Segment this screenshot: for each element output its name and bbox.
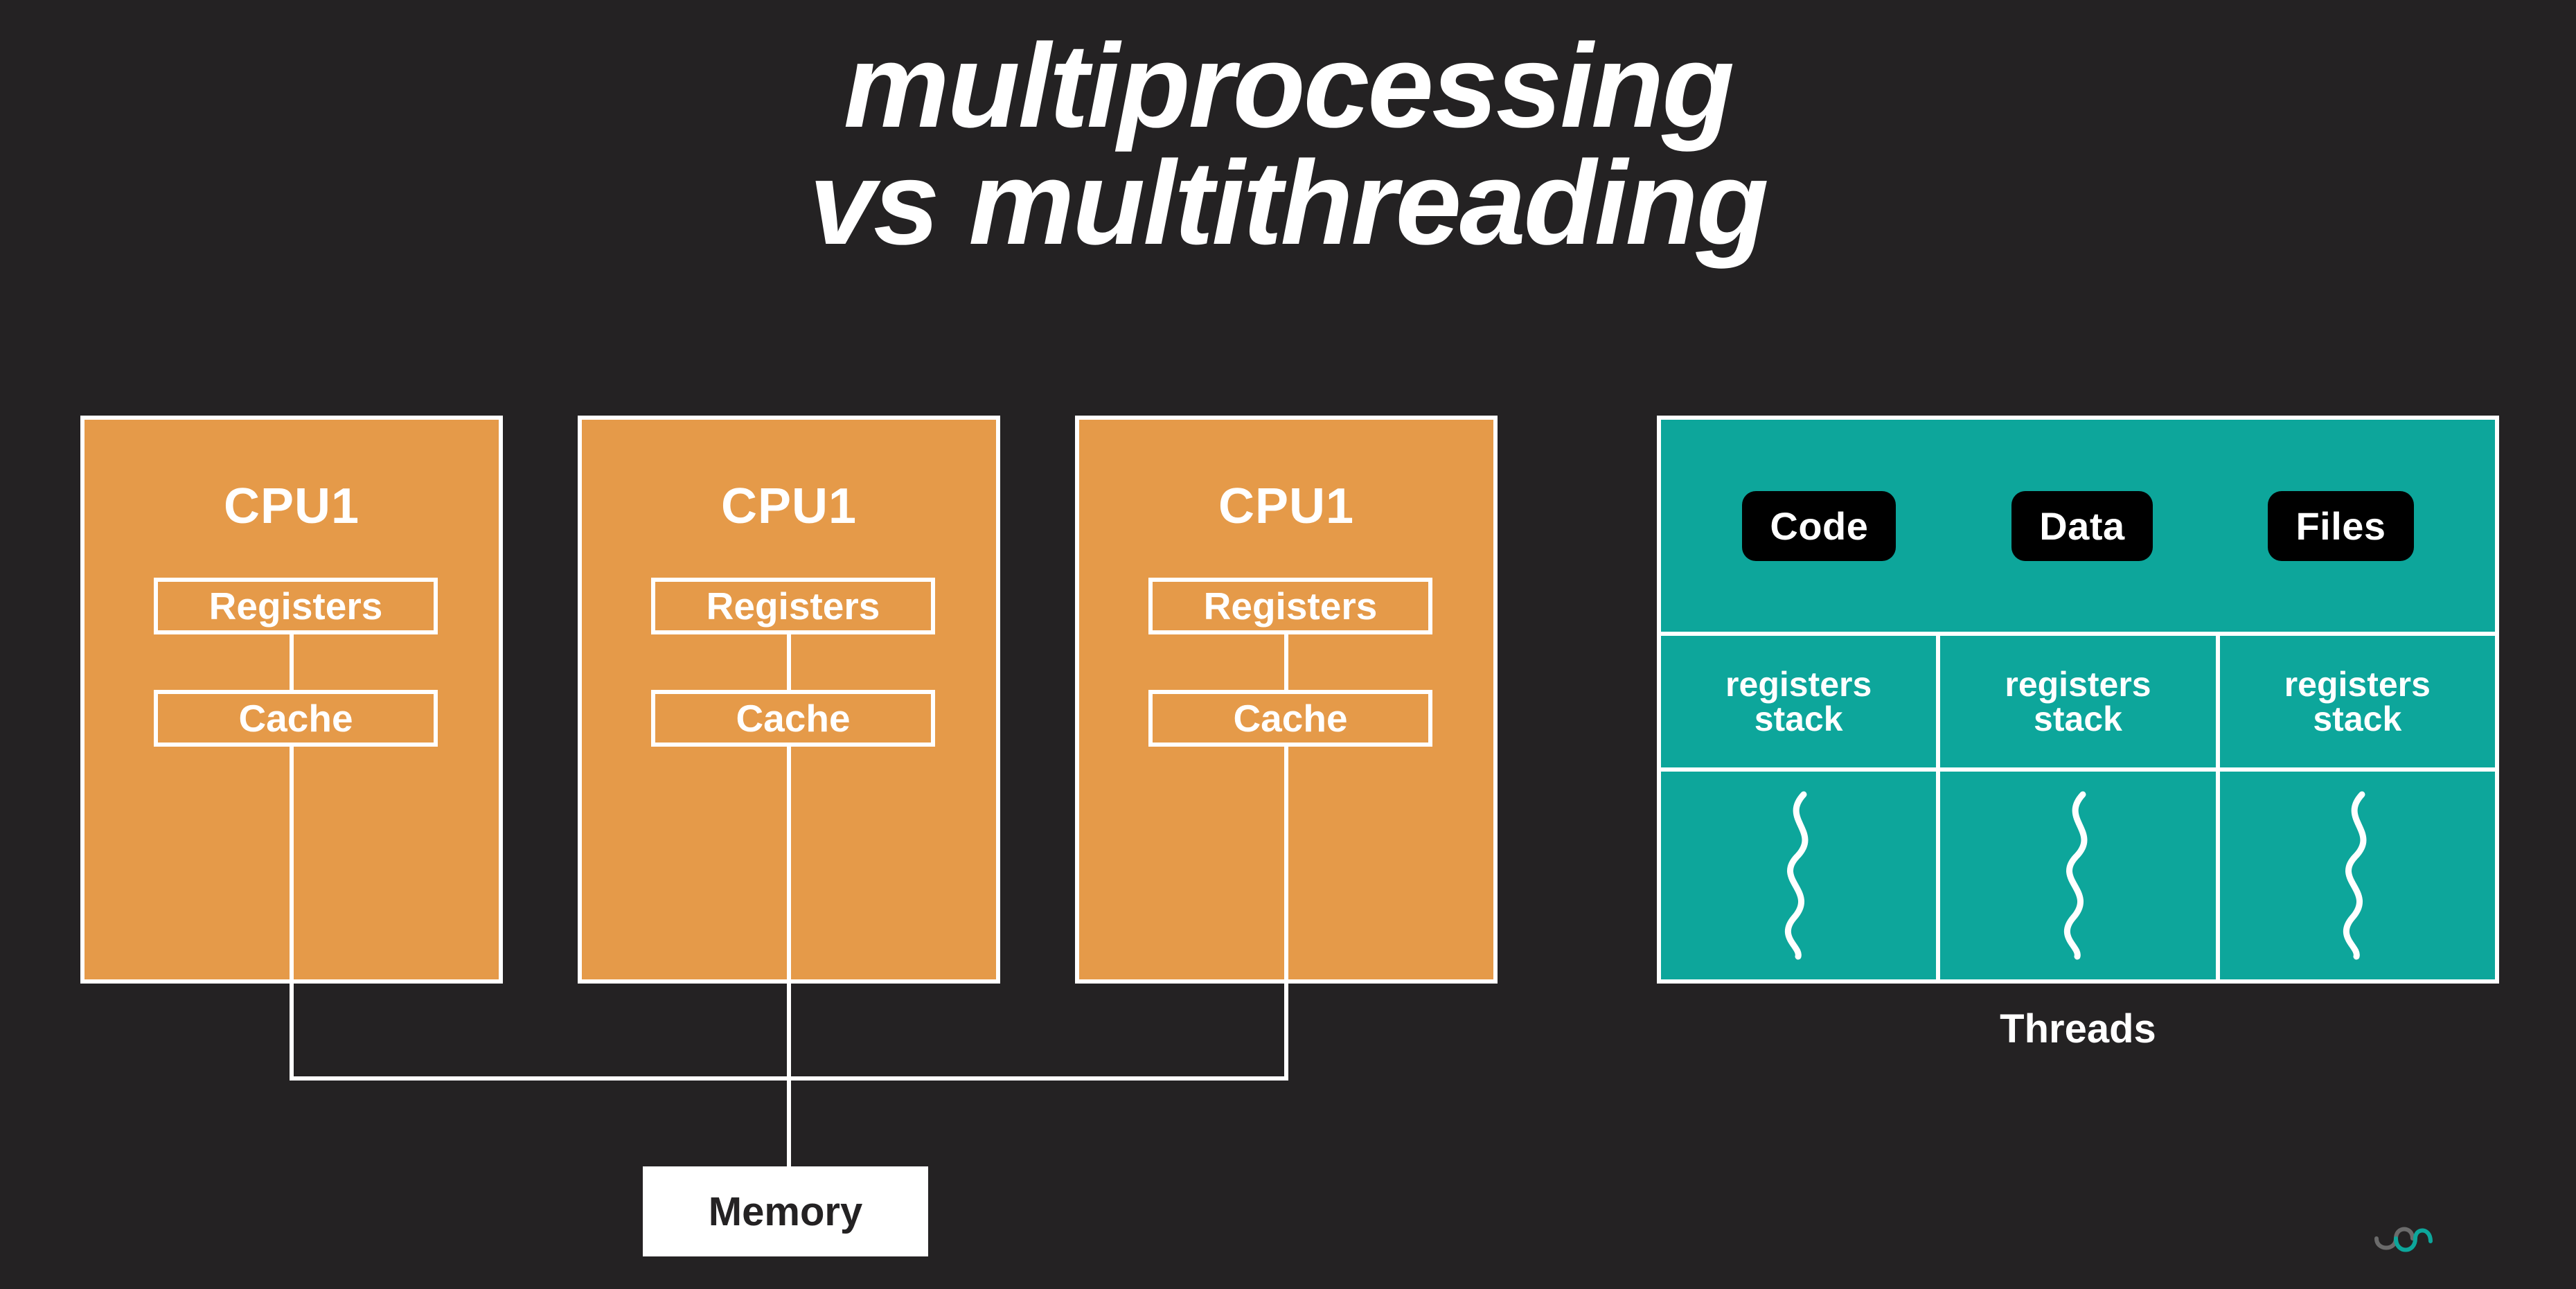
wave-loop-logo-icon [2372,1220,2435,1262]
cpu-title-1: CPU1 [85,478,499,535]
thread-panel: Code Data Files registers stack register… [1657,416,2499,984]
memory-bus-lead [787,1076,791,1168]
cpu-block-1: CPU1 Registers Cache [80,416,503,984]
cpu-bus-lead-2 [787,747,791,988]
thread-squiggle-cell-3 [2220,772,2495,979]
thread-registers-label-2: registers [2005,667,2151,702]
title-line-1: multiprocessing [0,28,2576,145]
cpu-cache-box-2: Cache [651,690,935,747]
memory-box: Memory [643,1166,928,1256]
cpu-cache-box-1: Cache [154,690,438,747]
squiggle-thread-icon [1768,789,1830,962]
thread-stack-label-3: stack [2313,702,2401,736]
shared-resources-row: Code Data Files [1661,420,2495,636]
cpu-registers-box-2: Registers [651,578,935,634]
thread-regstack-cell-3: registers stack [2220,636,2495,767]
thread-squiggle-cell-2 [1940,772,2219,979]
cpu-block-2: CPU1 Registers Cache [578,416,1000,984]
thread-squiggle-row [1661,772,2495,979]
cpu-block-3: CPU1 Registers Cache [1075,416,1498,984]
shared-badge-code: Code [1742,491,1896,561]
shared-badge-files: Files [2268,491,2413,561]
page-title: multiprocessing vs multithreading [0,28,2576,261]
memory-bus-drop-right [1284,984,1288,1081]
title-line-2: vs multithreading [0,145,2576,262]
cpu-bus-lead-3 [1284,747,1288,988]
thread-registers-stack-row: registers stack registers stack register… [1661,636,2495,772]
thread-squiggle-cell-1 [1661,772,1940,979]
cpu-registers-box-3: Registers [1148,578,1432,634]
cpu-title-3: CPU1 [1079,478,1493,535]
threads-caption: Threads [1657,1006,2499,1052]
thread-regstack-cell-1: registers stack [1661,636,1940,767]
cpu-registers-cache-connector-3 [1284,634,1288,690]
memory-bus-drop-left [290,984,294,1081]
thread-registers-label-1: registers [1725,667,1872,702]
cpu-registers-cache-connector-1 [290,634,294,690]
thread-regstack-cell-2: registers stack [1940,636,2219,767]
thread-stack-label-2: stack [2034,702,2122,736]
memory-bus-drop-middle [787,984,791,1081]
thread-stack-label-1: stack [1755,702,1843,736]
thread-registers-label-3: registers [2284,667,2431,702]
cpu-cache-box-3: Cache [1148,690,1432,747]
cpu-registers-cache-connector-2 [787,634,791,690]
diagram-canvas: multiprocessing vs multithreading CPU1 R… [0,0,2576,1289]
cpu-registers-box-1: Registers [154,578,438,634]
squiggle-thread-icon [2047,789,2109,962]
squiggle-thread-icon [2326,789,2388,962]
cpu-bus-lead-1 [290,747,294,988]
shared-badge-data: Data [2011,491,2152,561]
cpu-title-2: CPU1 [582,478,996,535]
